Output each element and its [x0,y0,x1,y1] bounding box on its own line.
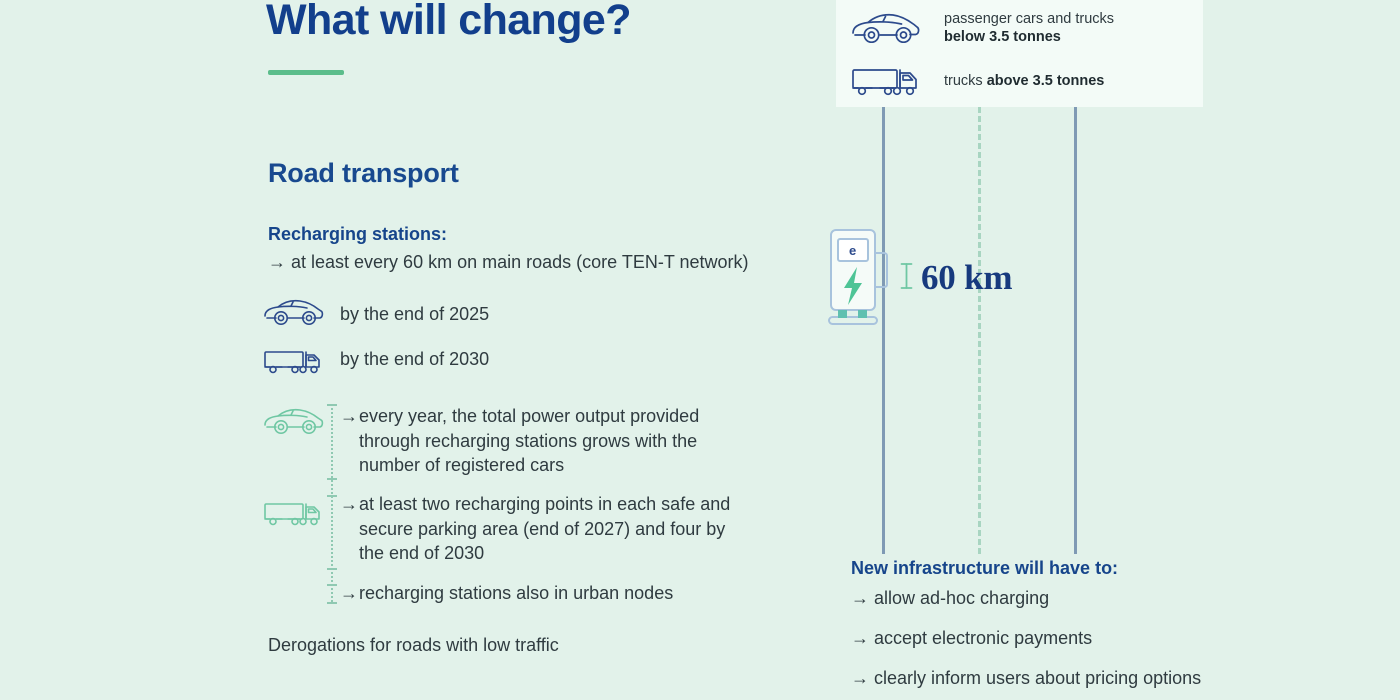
distance-label: 60 km [900,258,1012,298]
section-heading-road-transport: Road transport [268,158,459,189]
diagram-line-right [1074,107,1077,554]
legend-line-2: above 3.5 tonnes [987,73,1105,89]
infrastructure-item-ad-hoc: → allow ad-hoc charging [851,588,1049,609]
infrastructure-item-pricing: → clearly inform users about pricing opt… [851,668,1201,689]
infrastructure-item-payments: → accept electronic payments [851,628,1092,649]
svg-text:e: e [849,243,856,258]
lead-bullet-ten-t: → at least every 60 km on main roads (co… [268,252,749,273]
arrow-icon: → [340,404,358,429]
measure-ibeam-icon [900,261,913,296]
dotted-connector-line [331,404,335,602]
legend-label: trucks above 3.5 tonnes [944,72,1104,90]
car-icon [262,406,324,441]
infographic-root: What will change? Road transport Recharg… [0,0,1400,700]
connector-cap [327,495,337,497]
arrow-icon: → [340,492,358,517]
connector-cap [327,584,337,586]
subheading-recharging-stations: Recharging stations: [268,224,447,245]
infrastructure-heading: New infrastructure will have to: [851,558,1118,579]
legend-line-1: passenger cars and trucks [944,11,1114,27]
connector-cap [327,478,337,480]
bullet-urban-nodes: → recharging stations also in urban node… [340,581,740,606]
car-icon [850,11,922,45]
bullet-text: every year, the total power output provi… [359,404,760,478]
legend-item-trucks: trucks above 3.5 tonnes [850,64,1104,98]
legend-item-passenger-cars: passenger cars and trucks below 3.5 tonn… [850,10,1114,46]
deadline-label-2030: by the end of 2030 [340,349,489,370]
charging-station-icon: e [827,226,895,331]
legend-line-2: below 3.5 tonnes [944,29,1061,45]
connector-cap [327,602,337,604]
page-title: What will change? [266,0,631,45]
bullet-text: recharging stations also in urban nodes [359,581,740,606]
diagram-line-dashed-mid [978,107,981,554]
legend-line-1: trucks [944,73,987,89]
truck-icon [262,497,324,534]
legend-label: passenger cars and trucks below 3.5 tonn… [944,10,1114,46]
distance-value: 60 km [921,258,1012,298]
footnote-derogations: Derogations for roads with low traffic [268,635,559,656]
truck-icon [262,345,324,382]
truck-icon [850,64,922,98]
bullet-power-output: → every year, the total power output pro… [340,404,760,478]
connector-cap [327,568,337,570]
bullet-parking-points: → at least two recharging points in each… [340,492,740,566]
connector-cap [327,404,337,406]
arrow-icon: → [340,581,358,606]
bullet-text: at least two recharging points in each s… [359,492,740,566]
legend-panel: passenger cars and trucks below 3.5 tonn… [836,0,1203,107]
deadline-label-2025: by the end of 2025 [340,304,489,325]
title-accent-rule [268,70,344,75]
car-icon [262,297,324,332]
